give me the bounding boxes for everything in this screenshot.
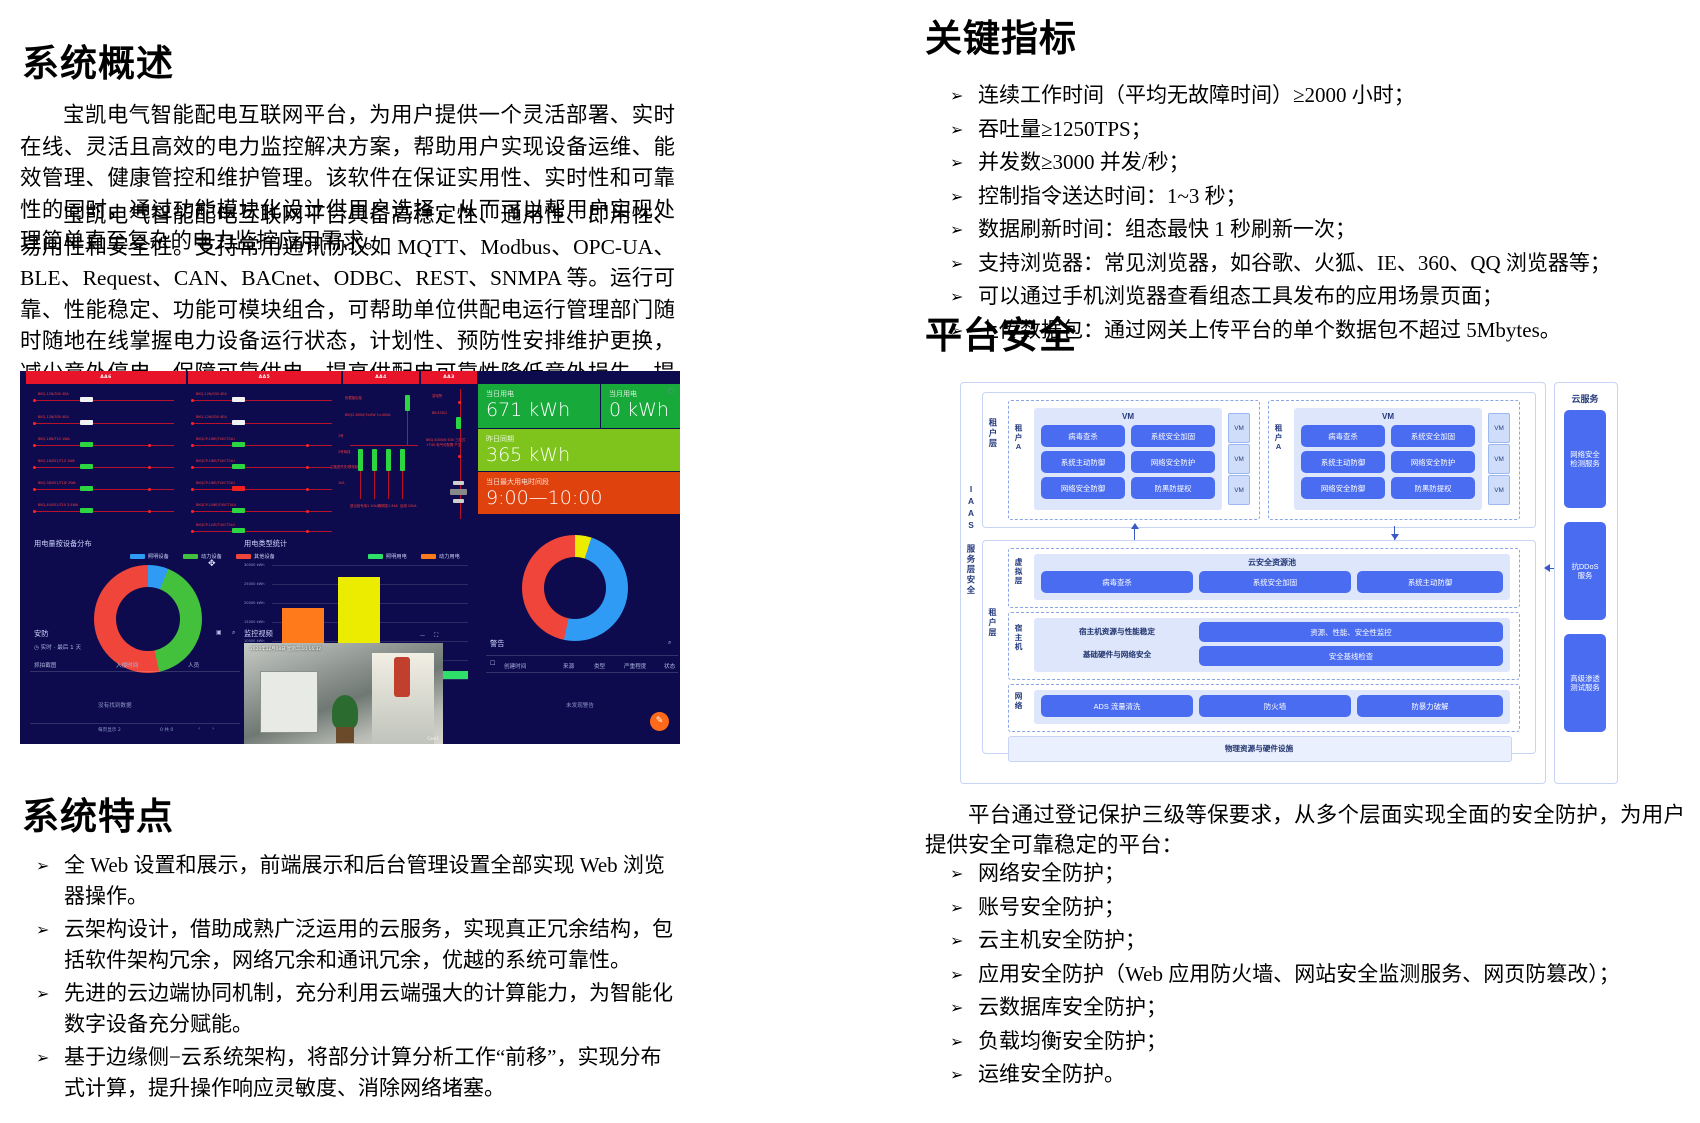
slide-page: 系统概述 宝凯电气智能配电互联网平台，为用户提供一个灵活部署、实时在线、灵活且高… (0, 0, 1700, 1123)
legend-label-type-power: 动力用电 (439, 553, 460, 560)
kpi-tile-peak-window: 当日最大用电时间段 9:00—10:00 (478, 472, 680, 514)
cloud-service-network-detection[interactable]: 网络安全 检测服务 (1564, 410, 1606, 508)
network-module-anti-bruteforce[interactable]: 防暴力破解 (1357, 695, 1503, 717)
list-item: ➢数据刷新时间：组态最快 1 秒刷新一次； (932, 214, 1672, 245)
menu-icon[interactable]: ⬡ (668, 387, 674, 395)
camera-icon[interactable]: ▣ (216, 629, 222, 636)
list-item: ➢支持浏览器：常见浏览器，如谷歌、火狐、IE、360、QQ 浏览器等； (932, 248, 1672, 279)
host-layer-label: 宿主机 (1014, 624, 1023, 668)
bay-header: AA6 (26, 371, 186, 384)
security-empty-state: 没有找到数据 (98, 701, 132, 709)
virtual-layer-label: 虚拟层 (1014, 558, 1023, 600)
col-header-type: 类型 (594, 662, 605, 670)
page-title-kpi: 关键指标 (925, 8, 1077, 62)
list-item: ➢云数据库安全防护； (932, 992, 1692, 1023)
cloud-pool-title: 云安全资源池 (1034, 557, 1510, 568)
list-item: ➢账号安全防护； (932, 892, 1692, 923)
edit-fab-button[interactable]: ✎ (650, 712, 669, 731)
cloud-service-penetration-test[interactable]: 高级渗透 测试服务 (1564, 634, 1606, 732)
tenant-layer-label-2: 租户层 (988, 608, 997, 690)
module-anti-privilege-escalation[interactable]: 防黑防提权 (1131, 477, 1215, 499)
panel-title-alarm: 警告 (490, 639, 504, 649)
pool-module-virus-scan[interactable]: 病毒查杀 (1041, 571, 1193, 593)
legend-swatch-type-lighting (368, 554, 383, 559)
bullet-arrow-icon: ➢ (950, 993, 963, 1024)
physical-layer-label: 物理资源与硬件设施 (1008, 743, 1510, 754)
vm-header-right: VM (1294, 412, 1482, 421)
tenant-layer-label: 租户层 (988, 418, 997, 500)
alarm-search-icon[interactable]: ⌕ (668, 639, 671, 647)
bullet-arrow-icon: ➢ (950, 1027, 963, 1058)
expand-icon[interactable]: ⛶ (434, 632, 438, 640)
legend-swatch-type-power (421, 554, 436, 559)
bullet-arrow-icon: ➢ (950, 148, 963, 179)
video-corner-label: Cam1 (427, 736, 439, 741)
list-item: ➢控制指令送达时间：1~3 秒； (932, 181, 1672, 212)
module-virus-scan[interactable]: 病毒查杀 (1301, 425, 1385, 447)
panel-title-video: 监控视频 (244, 629, 273, 639)
bullet-arrow-icon: ➢ (950, 249, 963, 280)
list-item: ➢网络安全防护； (932, 858, 1692, 889)
arrow-head-up (1131, 523, 1139, 529)
col-header-snapshot: 抓拍截图 (34, 661, 56, 669)
legend-label-other: 其他设备 (254, 553, 275, 560)
drag-handle-icon[interactable]: ✥ (208, 559, 216, 569)
network-layer-label: 网络 (1014, 692, 1023, 724)
vm-chip: VM (1488, 475, 1510, 505)
cloud-service-anti-ddos[interactable]: 抗DDoS 服务 (1564, 522, 1606, 620)
panel-title-device-distribution: 用电量按设备分布 (34, 539, 92, 549)
bay-header: AA3 (421, 371, 477, 384)
vm-chip: VM (1488, 444, 1510, 474)
pagination-count-label: 0 共 0 (160, 727, 173, 733)
legend-label-type-lighting: 照明用电 (386, 553, 407, 560)
module-network-defense[interactable]: 网络安全防御 (1301, 477, 1385, 499)
module-network-protection[interactable]: 网络安全防护 (1131, 451, 1215, 473)
col-header-created: 创建时间 (504, 662, 526, 670)
features-list: ➢全 Web 设置和展示，前端展示和后台管理设置全部实现 Web 浏览器操作。 … (18, 850, 678, 1106)
bullet-arrow-icon: ➢ (950, 893, 963, 924)
module-active-defense[interactable]: 系统主动防御 (1041, 451, 1125, 473)
pool-module-system-hardening[interactable]: 系统安全加固 (1199, 571, 1351, 593)
col-header-intrusion-time: 入侵时间 (116, 661, 138, 669)
list-item: ➢先进的云边端协同机制，充分利用云端强大的计算能力，为智能化数字设备充分赋能。 (18, 978, 678, 1039)
module-anti-privilege-escalation[interactable]: 防黑防提权 (1391, 477, 1475, 499)
list-item: ➢连续工作时间（平均无故障时间）≥2000 小时； (932, 80, 1672, 111)
vm-header-left: VM (1034, 412, 1222, 421)
network-module-ads[interactable]: ADS 流量清洗 (1041, 695, 1193, 717)
iaas-axis-label: IAAS 服务层安全 (966, 484, 975, 710)
col-header-severity: 严重程度 (624, 662, 646, 670)
security-list: ➢网络安全防护； ➢账号安全防护； ➢云主机安全防护； ➢应用安全防护（Web … (932, 858, 1692, 1093)
bullet-arrow-icon: ➢ (950, 859, 963, 890)
kpi-tile-today: 当日用电 671 kWh (478, 384, 600, 428)
bullet-arrow-icon: ➢ (950, 215, 963, 246)
list-item: ➢吞吐量≥1250TPS； (932, 114, 1672, 145)
panel-title-type-stats: 用电类型统计 (244, 539, 287, 549)
bay-header: AA5 (188, 371, 341, 384)
col-header-status: 状态 (664, 662, 675, 670)
host-label-resource-stability: 宿主机资源与性能稳定 (1041, 626, 1193, 637)
camera-feed[interactable]: 2020年12月08日 星期二 10:16:32 Cam1 (244, 643, 443, 744)
vm-chip: VM (1228, 444, 1250, 474)
page-title-features: 系统特点 (22, 786, 174, 840)
platform-security-diagram: IAAS 服务层安全 租户层 租户A VM 病毒查杀 系统安全加固 系统主动防御… (938, 368, 1618, 793)
vm-chip: VM (1228, 475, 1250, 505)
bullet-arrow-icon: ➢ (950, 115, 963, 146)
list-item: ➢基于边缘侧−云系统架构，将部分计算分析工作“前移”，实现分布式计算，提升操作响… (18, 1042, 678, 1103)
bullet-arrow-icon: ➢ (950, 182, 963, 213)
bullet-arrow-icon: ➢ (36, 851, 49, 882)
vm-chip: VM (1488, 413, 1510, 443)
host-module-monitoring[interactable]: 资源、性能、安全性监控 (1199, 622, 1503, 642)
bullet-arrow-icon: ➢ (950, 81, 963, 112)
pagination-prev-button[interactable]: ‹ (198, 726, 200, 732)
bullet-arrow-icon: ➢ (36, 1043, 49, 1074)
legend-label-lighting: 照明设备 (148, 553, 169, 560)
legend-swatch-lighting (130, 554, 145, 559)
dashboard-screenshot: AA6 AA5 AA4 AA3 BKQ-12N/330 4EA BKQ-12N/… (20, 371, 680, 744)
list-item: ➢应用安全防护（Web 应用防火墙、网站安全监测服务、网页防篡改）； (932, 959, 1692, 990)
bullet-arrow-icon: ➢ (950, 960, 963, 991)
legend-swatch-power (183, 554, 198, 559)
alarm-empty-state: 未发现警告 (566, 701, 594, 709)
list-item: ➢运维安全防护。 (932, 1059, 1692, 1090)
module-network-protection[interactable]: 网络安全防护 (1391, 451, 1475, 473)
bullet-arrow-icon: ➢ (950, 1060, 963, 1091)
bullet-arrow-icon: ➢ (36, 979, 49, 1010)
donut-hole-right (544, 557, 606, 619)
legend-swatch-other (236, 554, 251, 559)
bay-header: AA4 (343, 371, 419, 384)
col-header-person: 人员 (188, 661, 199, 669)
list-item: ➢云主机安全防护； (932, 925, 1692, 956)
video-timestamp: 2020年12月08日 星期二 10:16:32 (250, 646, 321, 652)
tenant-a-right-label: 租户A (1274, 424, 1283, 494)
vm-chip: VM (1228, 413, 1250, 443)
col-header-source: 来源 (563, 662, 574, 670)
donut-hole (116, 587, 180, 651)
module-system-hardening[interactable]: 系统安全加固 (1131, 425, 1215, 447)
list-item: ➢并发数≥3000 并发/秒； (932, 147, 1672, 178)
bullet-arrow-icon: ➢ (950, 926, 963, 957)
search-icon[interactable]: ⌕ (232, 629, 235, 637)
pagination-next-button[interactable]: › (212, 726, 214, 732)
tenant-a-left-label: 租户A (1014, 424, 1023, 494)
list-item: ➢云架构设计，借助成熟广泛运用的云服务，实现真正冗余结构，包括软件架构冗余，网络… (18, 914, 678, 975)
panel-title-security: 安防 (34, 629, 48, 639)
select-all-checkbox[interactable]: ☐ (490, 660, 495, 667)
security-paragraph: 平台通过登记保护三级等保要求，从多个层面实现全面的安全防护，为用户提供安全可靠稳… (925, 800, 1685, 860)
list-item: ➢全 Web 设置和展示，前端展示和后台管理设置全部实现 Web 浏览器操作。 (18, 850, 678, 911)
pagination-rows-label[interactable]: 每页显示 2 (98, 727, 121, 733)
pool-module-active-defense[interactable]: 系统主动防御 (1357, 571, 1503, 593)
network-module-firewall[interactable]: 防火墙 (1199, 695, 1351, 717)
security-range-label: ◷ 实时 · 最后 1 天 (34, 643, 81, 651)
module-virus-scan[interactable]: 病毒查杀 (1041, 425, 1125, 447)
page-title-security: 平台安全 (925, 305, 1077, 359)
module-network-defense[interactable]: 网络安全防御 (1041, 477, 1125, 499)
arrow-head-left (1544, 564, 1550, 572)
list-item: ➢负载均衡安全防护； (932, 1026, 1692, 1057)
module-active-defense[interactable]: 系统主动防御 (1301, 451, 1385, 473)
module-system-hardening[interactable]: 系统安全加固 (1391, 425, 1475, 447)
cloud-services-title: 云服务 (1554, 392, 1616, 405)
host-module-baseline-check[interactable]: 安全基线检查 (1199, 646, 1503, 666)
page-title-overview: 系统概述 (22, 33, 174, 87)
bullet-arrow-icon: ➢ (36, 915, 49, 946)
minimize-icon[interactable]: — (420, 633, 425, 639)
host-label-hardware-network: 基础硬件与网络安全 (1041, 649, 1193, 660)
kpi-tile-yesterday: 昨日同期 365 kWh (478, 429, 680, 471)
